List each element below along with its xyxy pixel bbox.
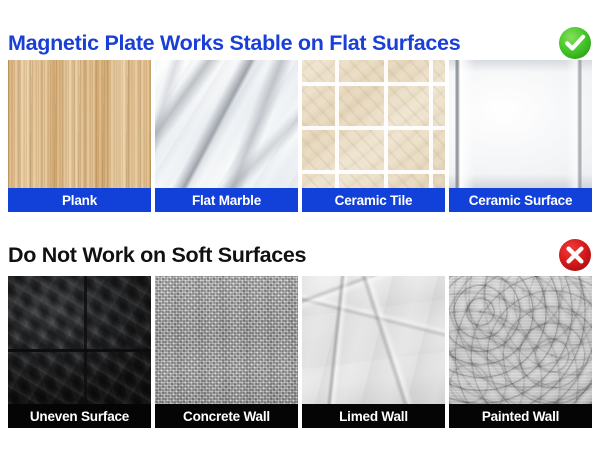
- surface-card-uneven-surface[interactable]: Uneven Surface: [8, 276, 151, 428]
- check-circle-icon: [558, 26, 592, 60]
- limed-plaster-texture: [302, 276, 445, 404]
- negative-section-title: Do Not Work on Soft Surfaces: [8, 243, 306, 268]
- surface-label: Uneven Surface: [8, 404, 151, 428]
- surface-card-painted-wall[interactable]: Painted Wall: [449, 276, 592, 428]
- white-marble-texture: [155, 60, 298, 188]
- incompatible-surfaces-row: Uneven Surface Concrete Wall Limed Wall …: [8, 276, 592, 428]
- white-ceramic-panel-texture: [449, 60, 592, 188]
- compatible-surfaces-row: Plank Flat Marble Ceramic Tile Ceramic S…: [8, 60, 592, 212]
- surface-label: Painted Wall: [449, 404, 592, 428]
- surface-card-ceramic-tile[interactable]: Ceramic Tile: [302, 60, 445, 212]
- surface-label: Limed Wall: [302, 404, 445, 428]
- positive-section-title: Magnetic Plate Works Stable on Flat Surf…: [8, 31, 460, 56]
- surface-card-concrete-wall[interactable]: Concrete Wall: [155, 276, 298, 428]
- surface-label: Plank: [8, 188, 151, 212]
- surface-card-limed-wall[interactable]: Limed Wall: [302, 276, 445, 428]
- surface-label: Ceramic Tile: [302, 188, 445, 212]
- surface-label: Ceramic Surface: [449, 188, 592, 212]
- surface-compatibility-infographic: Magnetic Plate Works Stable on Flat Surf…: [0, 0, 600, 450]
- negative-section-header: Do Not Work on Soft Surfaces: [8, 238, 592, 272]
- surface-card-ceramic-surface[interactable]: Ceramic Surface: [449, 60, 592, 212]
- painted-stucco-texture: [449, 276, 592, 404]
- surface-label: Flat Marble: [155, 188, 298, 212]
- surface-card-flat-marble[interactable]: Flat Marble: [155, 60, 298, 212]
- surface-label: Concrete Wall: [155, 404, 298, 428]
- wood-plank-texture: [8, 60, 151, 188]
- dark-slate-stone-texture: [8, 276, 151, 404]
- surface-card-plank[interactable]: Plank: [8, 60, 151, 212]
- grey-concrete-texture: [155, 276, 298, 404]
- x-circle-icon: [558, 238, 592, 272]
- positive-section-header: Magnetic Plate Works Stable on Flat Surf…: [8, 26, 592, 60]
- beige-ceramic-tile-texture: [302, 60, 445, 188]
